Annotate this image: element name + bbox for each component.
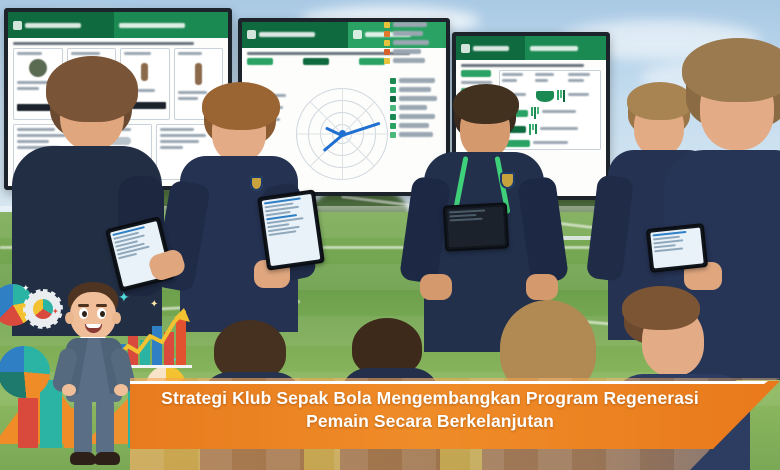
radar-legend-warm [384,22,442,67]
hand [420,274,452,300]
tablet-coach[interactable] [443,202,509,251]
tablet-screen[interactable] [262,194,321,266]
tablet-left[interactable] [257,189,325,270]
mascot-businessman [58,282,138,466]
tablet-right[interactable] [646,223,708,273]
tablet-screen[interactable] [447,207,505,248]
board-right-header [456,36,606,60]
hair [622,286,700,330]
banner-top-rule [130,381,768,384]
tablet-screen[interactable] [650,227,703,268]
board-right-title [473,46,509,51]
board-tag [359,58,385,65]
board-tag [247,58,273,65]
team-crest [250,176,263,191]
board-left-subtitle [119,23,185,28]
board-center-body [242,48,446,71]
board-left-header [8,12,228,38]
board-center-title [259,32,315,37]
hair [453,84,519,124]
sparkle-icon: ✦ [22,284,30,293]
pie-chart [0,346,50,398]
board-badge-icon [353,30,362,39]
hair [46,56,138,122]
board-logo-icon [13,21,22,30]
board-tag [303,58,329,65]
hair [627,82,693,120]
radar-chart [296,88,388,180]
hand [526,274,558,300]
thumbnail-canvas: ✦ ✦ ✦ ✦ ✦ [0,0,780,470]
hair [202,82,280,130]
page-title: Strategi Klub Sepak Bola Mengembangkan P… [130,387,730,433]
team-crest [500,172,515,189]
hair [214,320,286,380]
title-banner: Strategi Klub Sepak Bola Mengembangkan P… [130,378,780,470]
board-tag [461,70,491,77]
radar-legend-green [390,78,442,141]
board-logo-icon [461,44,470,53]
board-logo-icon [247,30,256,39]
bar [18,398,38,448]
board-left-title [25,23,81,28]
hair [682,38,780,102]
board-right-subtitle [530,46,578,51]
